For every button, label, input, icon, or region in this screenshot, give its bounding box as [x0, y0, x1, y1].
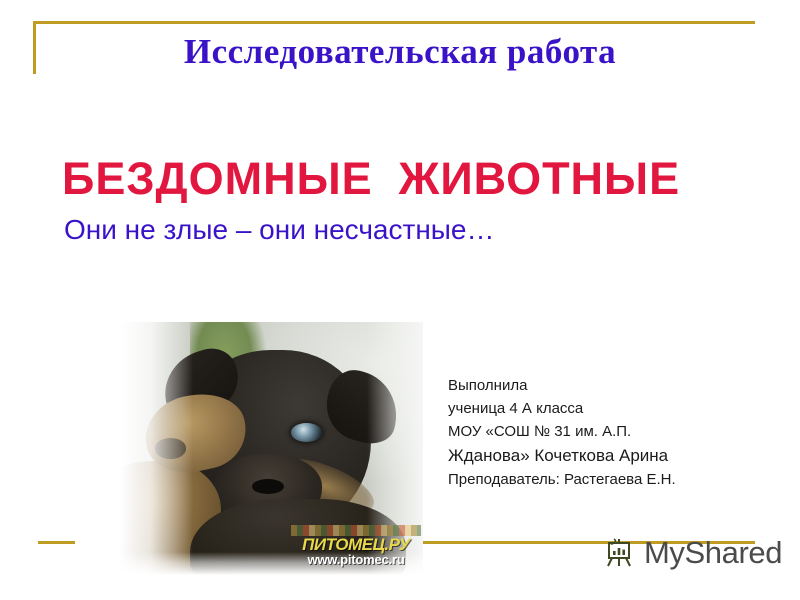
top-gold-rule: [33, 21, 755, 24]
author-line-4: Жданова» Кочеткова Арина: [448, 443, 778, 468]
myshared-brand-label: MyShared: [644, 535, 782, 571]
puppy-eye: [291, 423, 322, 442]
deck-title: Исследовательская работа: [0, 32, 800, 72]
main-heading: БЕЗДОМНЫЕЖИВОТНЫЕ: [62, 153, 680, 205]
author-block: Выполнила ученица 4 А класса МОУ «СОШ № …: [448, 374, 778, 491]
puppy-photo: ПИТОМЕЦ.РУ www.pitomec.ru: [75, 322, 423, 575]
author-line-5: Преподаватель: Растегаева Е.Н.: [448, 468, 778, 491]
author-line-1: Выполнила: [448, 374, 778, 397]
photo-watermark: ПИТОМЕЦ.РУ www.pitomec.ru: [291, 525, 421, 566]
watermark-title: ПИТОМЕЦ.РУ: [291, 536, 421, 553]
author-line-3: МОУ «СОШ № 31 им. А.П.: [448, 420, 778, 443]
watermark-url: www.pitomec.ru: [291, 553, 421, 566]
puppy-nose: [252, 479, 283, 494]
presentation-slide: Исследовательская работа БЕЗДОМНЫЕЖИВОТН…: [0, 0, 800, 600]
author-line-2: ученица 4 А класса: [448, 397, 778, 420]
myshared-brand[interactable]: MyShared: [602, 535, 782, 571]
main-heading-word-1: БЕЗДОМНЫЕ: [62, 153, 373, 204]
watermark-decor-strip: [291, 525, 421, 536]
photo-left-flare: [75, 322, 193, 575]
sub-heading: Они не злые – они несчастные…: [64, 214, 495, 246]
main-heading-word-2: ЖИВОТНЫЕ: [399, 153, 680, 204]
presentation-board-icon: [602, 536, 636, 570]
